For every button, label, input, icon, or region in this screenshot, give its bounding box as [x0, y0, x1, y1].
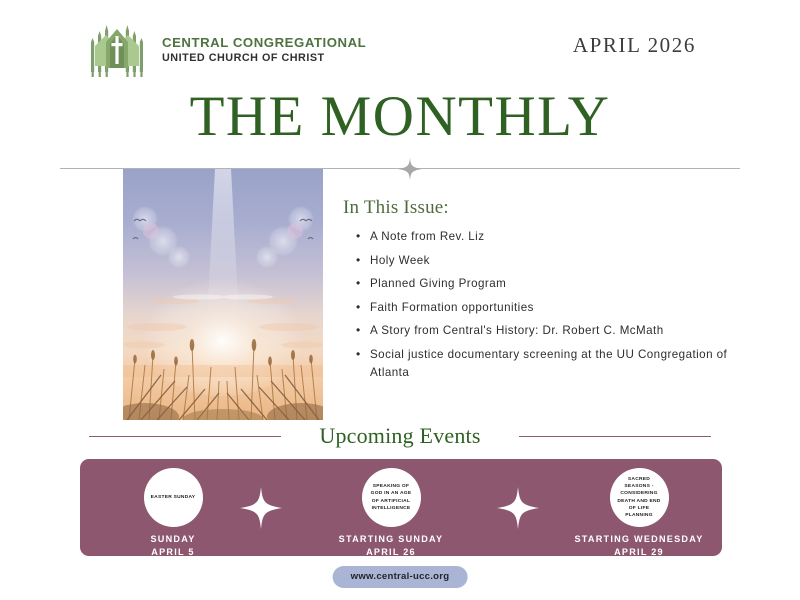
- sparkle-star-icon: [496, 486, 540, 530]
- list-item: Holy Week: [368, 252, 743, 270]
- event-date-line2: APRIL 29: [574, 546, 703, 559]
- page-title: THE MONTHLY: [0, 88, 800, 145]
- sparkle-star-icon: [239, 486, 283, 530]
- event-date-line1: STARTING WEDNESDAY: [574, 533, 703, 546]
- issue-date: APRIL 2026: [573, 33, 696, 58]
- event-date-line2: APRIL 5: [150, 546, 195, 559]
- event-date-line1: SUNDAY: [150, 533, 195, 546]
- event-badge-circle: SACRED SEASONS - CONSIDERING DEATH AND E…: [610, 468, 669, 527]
- org-name-secondary: UNITED CHURCH OF CHRIST: [162, 51, 366, 66]
- org-name-primary: CENTRAL CONGREGATIONAL: [162, 34, 366, 52]
- list-item: Planned Giving Program: [368, 275, 743, 293]
- event-badge-circle: EASTER SUNDAY: [144, 468, 203, 527]
- in-this-issue-heading: In This Issue:: [343, 197, 743, 219]
- newsletter-page: CENTRAL CONGREGATIONAL UNITED CHURCH OF …: [0, 0, 800, 600]
- in-this-issue-section: In This Issue: A Note from Rev. Liz Holy…: [343, 197, 743, 387]
- in-this-issue-list: A Note from Rev. Liz Holy Week Planned G…: [343, 228, 743, 382]
- masthead: THE MONTHLY: [0, 88, 800, 145]
- website-link[interactable]: www.central-ucc.org: [333, 566, 468, 588]
- brand-lockup: CENTRAL CONGREGATIONAL UNITED CHURCH OF …: [86, 22, 366, 78]
- event-card-3[interactable]: SACRED SEASONS - CONSIDERING DEATH AND E…: [564, 468, 714, 559]
- event-date: SUNDAY APRIL 5: [150, 533, 195, 559]
- event-title: SPEAKING OF GOD IN AN AGE OF ARTIFICIAL …: [362, 483, 421, 511]
- event-badge-circle: SPEAKING OF GOD IN AN AGE OF ARTIFICIAL …: [362, 468, 421, 527]
- hero-image: [123, 169, 323, 420]
- page-header: CENTRAL CONGREGATIONAL UNITED CHURCH OF …: [0, 0, 800, 90]
- brand-text: CENTRAL CONGREGATIONAL UNITED CHURCH OF …: [162, 34, 366, 67]
- upcoming-events-banner: EASTER SUNDAY SUNDAY APRIL 5 SPEAKING OF…: [80, 459, 722, 556]
- event-title: EASTER SUNDAY: [146, 494, 201, 501]
- church-cross-logo-icon: [86, 22, 148, 78]
- event-date: STARTING SUNDAY APRIL 26: [339, 533, 444, 559]
- list-item: A Note from Rev. Liz: [368, 228, 743, 246]
- heading-rule-right: [519, 436, 711, 437]
- list-item: Faith Formation opportunities: [368, 299, 743, 317]
- heading-rule-left: [89, 436, 281, 437]
- event-card-1[interactable]: EASTER SUNDAY SUNDAY APRIL 5: [98, 468, 248, 559]
- list-item: A Story from Central's History: Dr. Robe…: [368, 322, 743, 340]
- event-title: SACRED SEASONS - CONSIDERING DEATH AND E…: [610, 476, 669, 519]
- list-item: Social justice documentary screening at …: [368, 346, 743, 383]
- upcoming-events-heading-row: Upcoming Events: [60, 420, 740, 452]
- upcoming-events-heading: Upcoming Events: [319, 423, 480, 449]
- event-card-2[interactable]: SPEAKING OF GOD IN AN AGE OF ARTIFICIAL …: [316, 468, 466, 559]
- event-date-line1: STARTING SUNDAY: [339, 533, 444, 546]
- four-point-star-icon: [398, 158, 422, 180]
- event-date: STARTING WEDNESDAY APRIL 29: [574, 533, 703, 559]
- event-date-line2: APRIL 26: [339, 546, 444, 559]
